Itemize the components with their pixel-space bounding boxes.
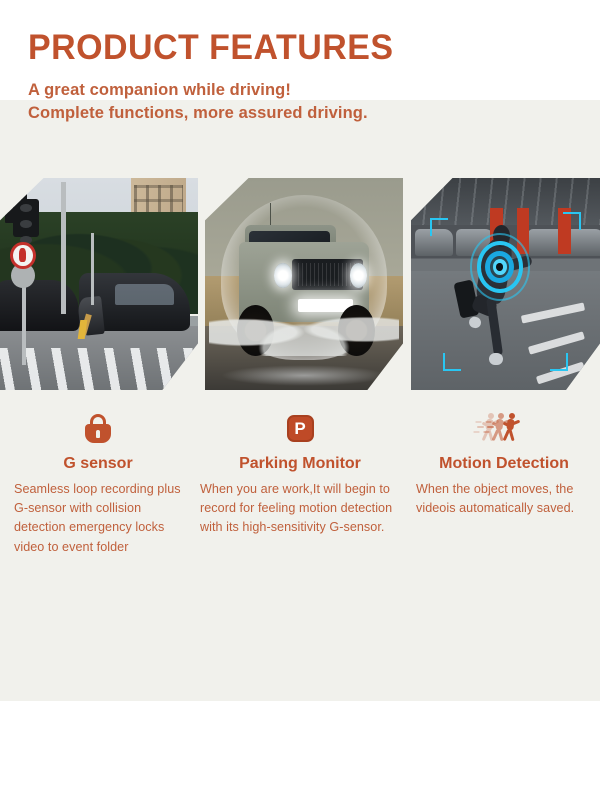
feature-title-g-sensor: G sensor xyxy=(8,454,188,473)
car-right-window xyxy=(115,284,174,305)
crosswalk-stripes xyxy=(0,348,198,390)
photo-suv-splashing-water xyxy=(205,178,403,390)
feature-image-row xyxy=(0,178,600,400)
lock-keyhole xyxy=(96,430,100,438)
shoe xyxy=(489,353,503,364)
feature-parking-monitor: P Parking Monitor When you are work,It w… xyxy=(200,410,408,557)
no-entry-sign-icon xyxy=(10,242,36,270)
garage-scene-art xyxy=(411,178,600,390)
feature-motion-detection: Motion Detection When the object moves, … xyxy=(408,410,600,557)
motion-target-reticle-icon xyxy=(470,233,530,301)
feature-description-parking-monitor: When you are work,It will begin to recor… xyxy=(200,480,400,537)
feature-icon-slot xyxy=(8,410,188,446)
feature-g-sensor: G sensor Seamless loop recording plus G-… xyxy=(0,410,200,557)
suv-scene-art xyxy=(205,178,403,390)
subtitle-line-2: Complete functions, more assured driving… xyxy=(28,102,568,125)
product-features-page: PRODUCT FEATURES A great companion while… xyxy=(0,0,600,799)
traffic-light-icon xyxy=(13,199,39,237)
page-title: PRODUCT FEATURES xyxy=(28,30,552,67)
secondary-pole xyxy=(91,233,94,305)
feature-description-g-sensor: Seamless loop recording plus G-sensor wi… xyxy=(8,480,188,557)
feature-title-motion-detection: Motion Detection xyxy=(414,454,594,473)
feature-icon-slot xyxy=(414,410,594,446)
water-splash xyxy=(209,297,399,356)
car-left xyxy=(0,280,79,331)
feature-title-parking-monitor: Parking Monitor xyxy=(200,454,400,473)
subtitle-line-1: A great companion while driving! xyxy=(28,79,568,102)
parked-car xyxy=(566,229,600,257)
heading-block: PRODUCT FEATURES A great companion while… xyxy=(28,30,568,124)
corner-bracket-icon xyxy=(563,212,581,230)
corner-bracket-icon xyxy=(550,353,568,371)
feature-icon-slot: P xyxy=(200,410,400,446)
lock-icon xyxy=(85,413,111,443)
photo-parking-garage-motion xyxy=(411,178,600,390)
corner-bracket-icon xyxy=(430,218,448,236)
subtitle-block: A great companion while driving! Complet… xyxy=(28,79,568,125)
feature-description-motion-detection: When the object moves, the videois autom… xyxy=(414,480,594,518)
corner-bracket-icon xyxy=(443,353,461,371)
crash-scene-art xyxy=(0,178,198,390)
photo-car-crash-intersection xyxy=(0,178,198,390)
runner-main xyxy=(503,413,518,443)
shoe xyxy=(468,315,483,329)
running-people-icon xyxy=(482,413,526,443)
street-pole xyxy=(61,182,65,313)
parking-p-icon: P xyxy=(287,415,314,442)
feature-list: G sensor Seamless loop recording plus G-… xyxy=(0,410,600,557)
front-leg xyxy=(486,297,503,356)
